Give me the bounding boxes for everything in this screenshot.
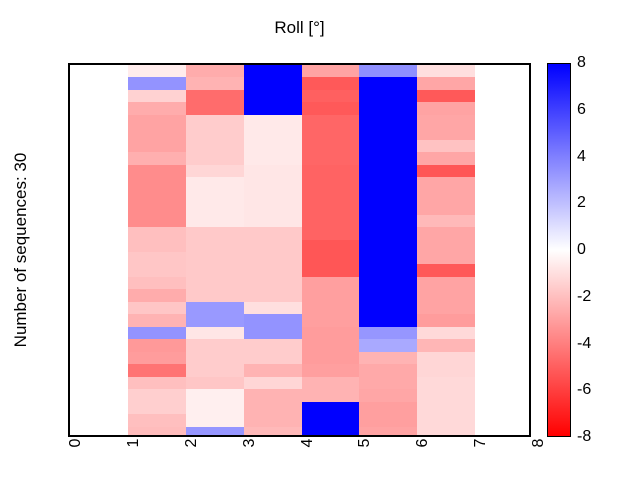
heatmap-cell: [128, 177, 186, 190]
heatmap-cell: [128, 227, 186, 240]
heatmap-cell: [302, 289, 359, 302]
colorbar-tick-label: 2: [577, 195, 586, 211]
y-axis-label-text: Number of sequences: 30: [11, 153, 31, 348]
heatmap-cell: [417, 165, 475, 177]
y-axis-label: Number of sequences: 30: [6, 63, 36, 437]
heatmap-cell: [302, 339, 359, 352]
heatmap-cell: [186, 377, 244, 389]
x-tick-text: 6: [415, 439, 431, 448]
colorbar-tick-label: -8: [577, 429, 591, 445]
heatmap-cell: [359, 264, 417, 277]
heatmap-cell: [359, 252, 417, 264]
heatmap-cell: [128, 115, 186, 127]
heatmap-cell: [302, 240, 359, 252]
heatmap-grid: [70, 65, 529, 435]
heatmap-cell: [186, 364, 244, 377]
colorbar-tick-label: 8: [577, 55, 586, 71]
heatmap-cell: [244, 364, 302, 377]
heatmap-cell: [302, 427, 359, 437]
heatmap-cell: [302, 402, 359, 414]
heatmap-cell: [244, 377, 302, 389]
heatmap-cell: [186, 402, 244, 414]
heatmap-cell: [302, 177, 359, 190]
heatmap-cell: [186, 215, 244, 227]
heatmap-cell: [417, 77, 475, 90]
heatmap-cell: [186, 127, 244, 140]
heatmap-cell: [128, 389, 186, 402]
heatmap-cell: [244, 289, 302, 302]
heatmap-cell: [417, 339, 475, 352]
heatmap-cell: [244, 77, 302, 90]
heatmap-cell: [359, 402, 417, 414]
heatmap-cell: [186, 202, 244, 215]
heatmap-cell: [244, 65, 302, 77]
heatmap-cell: [186, 240, 244, 252]
heatmap-cell: [417, 115, 475, 127]
heatmap-cell: [302, 327, 359, 339]
x-tick-text: 8: [531, 439, 547, 448]
heatmap-cell: [186, 65, 244, 77]
heatmap-cell: [359, 65, 417, 77]
heatmap-cell: [244, 277, 302, 289]
heatmap-cell: [302, 314, 359, 327]
heatmap-cell: [186, 352, 244, 364]
colorbar-tick-label: -6: [577, 382, 591, 398]
heatmap-cell: [302, 364, 359, 377]
colorbar-tick-label: -2: [577, 289, 591, 305]
heatmap-cell: [359, 152, 417, 165]
heatmap-cell: [186, 289, 244, 302]
heatmap-cell: [244, 252, 302, 264]
heatmap-cell: [186, 140, 244, 152]
heatmap-cell: [128, 127, 186, 140]
heatmap-cell: [128, 327, 186, 339]
heatmap-cell: [359, 314, 417, 327]
heatmap-cell: [417, 364, 475, 377]
heatmap-cell: [128, 152, 186, 165]
heatmap-cell: [417, 252, 475, 264]
heatmap-cell: [244, 177, 302, 190]
heatmap-cell: [359, 90, 417, 102]
heatmap-cell: [359, 277, 417, 289]
heatmap-cell: [128, 352, 186, 364]
heatmap-cell: [302, 389, 359, 402]
colorbar-tick-label: 6: [577, 102, 586, 118]
heatmap-cell: [128, 202, 186, 215]
heatmap-cell: [417, 177, 475, 190]
x-tick-text: 1: [126, 439, 142, 448]
heatmap-cell: [244, 202, 302, 215]
heatmap-cell: [417, 352, 475, 364]
heatmap-cell: [359, 414, 417, 427]
heatmap-cell: [244, 339, 302, 352]
heatmap-cell: [128, 140, 186, 152]
heatmap-cell: [244, 240, 302, 252]
heatmap-cell: [244, 215, 302, 227]
heatmap-cell: [244, 352, 302, 364]
heatmap-cell: [359, 127, 417, 140]
heatmap-cell: [244, 165, 302, 177]
heatmap-cell: [128, 215, 186, 227]
heatmap-cell: [244, 264, 302, 277]
heatmap-cell: [417, 127, 475, 140]
heatmap-cell: [186, 327, 244, 339]
heatmap-cell: [244, 402, 302, 414]
heatmap-cell: [244, 115, 302, 127]
heatmap-cell: [128, 90, 186, 102]
heatmap-cell: [359, 427, 417, 437]
heatmap-cell: [302, 414, 359, 427]
heatmap-cell: [359, 140, 417, 152]
heatmap-cell: [186, 77, 244, 90]
heatmap-cell: [417, 240, 475, 252]
x-tick-label: 6: [403, 443, 427, 477]
x-tick-text: 7: [473, 439, 489, 448]
x-tick-label: 2: [172, 443, 196, 477]
heatmap-cell: [128, 414, 186, 427]
heatmap-cell: [128, 377, 186, 389]
heatmap-cell: [186, 414, 244, 427]
heatmap-cell: [186, 102, 244, 115]
heatmap-cell: [302, 377, 359, 389]
plot-area: [68, 63, 531, 437]
x-tick-label: 1: [114, 443, 138, 477]
heatmap-cell: [302, 152, 359, 165]
heatmap-cell: [186, 227, 244, 240]
heatmap-cell: [359, 289, 417, 302]
heatmap-cell: [244, 327, 302, 339]
heatmap-cell: [128, 65, 186, 77]
heatmap-cell: [359, 77, 417, 90]
heatmap-cell: [359, 327, 417, 339]
heatmap-cell: [417, 140, 475, 152]
heatmap-cell: [244, 314, 302, 327]
heatmap-cell: [359, 177, 417, 190]
heatmap-cell: [417, 402, 475, 414]
heatmap-cell: [186, 339, 244, 352]
heatmap-cell: [359, 352, 417, 364]
page-title: Roll [°]: [68, 18, 531, 38]
heatmap-cell: [302, 127, 359, 140]
heatmap-cell: [128, 190, 186, 202]
heatmap-cell: [302, 252, 359, 264]
heatmap-cell: [359, 102, 417, 115]
heatmap-cell: [302, 302, 359, 314]
heatmap-cell: [128, 277, 186, 289]
heatmap-cell: [417, 427, 475, 437]
heatmap-cell: [417, 65, 475, 77]
heatmap-cell: [244, 140, 302, 152]
heatmap-cell: [417, 289, 475, 302]
heatmap-cell: [302, 140, 359, 152]
heatmap-cell: [244, 152, 302, 165]
heatmap-cell: [417, 90, 475, 102]
heatmap-cell: [244, 389, 302, 402]
heatmap-cell: [302, 227, 359, 240]
heatmap-cell: [359, 389, 417, 402]
heatmap-cell: [359, 377, 417, 389]
heatmap-cell: [186, 427, 244, 437]
x-tick-label: 7: [461, 443, 485, 477]
heatmap-cell: [244, 90, 302, 102]
colorbar-tick-label: 0: [577, 242, 586, 258]
heatmap-cell: [417, 327, 475, 339]
heatmap-cell: [359, 240, 417, 252]
heatmap-cell: [186, 177, 244, 190]
heatmap-cell: [244, 427, 302, 437]
colorbar-gradient: [548, 64, 570, 436]
heatmap-cell: [128, 289, 186, 302]
heatmap-cell: [417, 202, 475, 215]
x-tick-text: 2: [184, 439, 200, 448]
heatmap-cell: [186, 90, 244, 102]
heatmap-cell: [302, 215, 359, 227]
heatmap-cell: [186, 252, 244, 264]
heatmap-cell: [186, 152, 244, 165]
heatmap-cell: [359, 202, 417, 215]
heatmap-cell: [186, 115, 244, 127]
heatmap-cell: [359, 339, 417, 352]
x-tick-label: 5: [345, 443, 369, 477]
heatmap-cell: [244, 190, 302, 202]
heatmap-cell: [359, 227, 417, 240]
heatmap-cell: [244, 302, 302, 314]
heatmap-cell: [128, 402, 186, 414]
heatmap-cell: [244, 102, 302, 115]
heatmap-cell: [302, 277, 359, 289]
heatmap-cell: [359, 190, 417, 202]
heatmap-cell: [359, 115, 417, 127]
heatmap-cell: [302, 115, 359, 127]
heatmap-cell: [417, 190, 475, 202]
heatmap-cell: [128, 427, 186, 437]
heatmap-cell: [186, 190, 244, 202]
heatmap-cell: [244, 127, 302, 140]
x-tick-label: 0: [56, 443, 80, 477]
heatmap-cell: [417, 227, 475, 240]
heatmap-cell: [244, 227, 302, 240]
heatmap-cell: [359, 165, 417, 177]
x-tick-text: 4: [300, 439, 316, 448]
heatmap-cell: [417, 102, 475, 115]
heatmap-cell: [128, 252, 186, 264]
heatmap-cell: [128, 314, 186, 327]
heatmap-cell: [302, 65, 359, 77]
colorbar-tick-label: 4: [577, 149, 586, 165]
heatmap-cell: [302, 190, 359, 202]
colorbar-tick-label: -4: [577, 336, 591, 352]
colorbar: [547, 63, 571, 437]
heatmap-cell: [128, 240, 186, 252]
heatmap-cell: [417, 314, 475, 327]
x-tick-label: 4: [288, 443, 312, 477]
heatmap-cell: [244, 414, 302, 427]
heatmap-cell: [417, 377, 475, 389]
heatmap-cell: [302, 102, 359, 115]
heatmap-cell: [302, 202, 359, 215]
x-tick-text: 5: [357, 439, 373, 448]
heatmap-cell: [128, 302, 186, 314]
heatmap-cell: [128, 165, 186, 177]
heatmap-cell: [302, 90, 359, 102]
heatmap-cell: [417, 414, 475, 427]
heatmap-cell: [417, 389, 475, 402]
heatmap-cell: [417, 264, 475, 277]
heatmap-figure: Roll [°] Number of sequences: 30 0123456…: [0, 0, 640, 480]
heatmap-cell: [128, 77, 186, 90]
heatmap-cell: [128, 102, 186, 115]
heatmap-cell: [186, 314, 244, 327]
heatmap-cell: [359, 302, 417, 314]
x-tick-label: 8: [519, 443, 543, 477]
heatmap-cell: [417, 215, 475, 227]
heatmap-cell: [186, 389, 244, 402]
heatmap-cell: [359, 364, 417, 377]
x-tick-text: 0: [68, 439, 84, 448]
heatmap-cell: [359, 215, 417, 227]
heatmap-cell: [128, 264, 186, 277]
heatmap-cell: [186, 277, 244, 289]
heatmap-cell: [417, 277, 475, 289]
heatmap-cell: [417, 302, 475, 314]
x-tick-label: 3: [230, 443, 254, 477]
heatmap-cell: [302, 352, 359, 364]
heatmap-cell: [186, 264, 244, 277]
heatmap-cell: [302, 165, 359, 177]
heatmap-cell: [417, 152, 475, 165]
heatmap-cell: [128, 364, 186, 377]
x-tick-text: 3: [242, 439, 258, 448]
heatmap-cell: [186, 165, 244, 177]
heatmap-cell: [302, 264, 359, 277]
heatmap-cell: [302, 77, 359, 90]
heatmap-cell: [128, 339, 186, 352]
heatmap-cell: [186, 302, 244, 314]
